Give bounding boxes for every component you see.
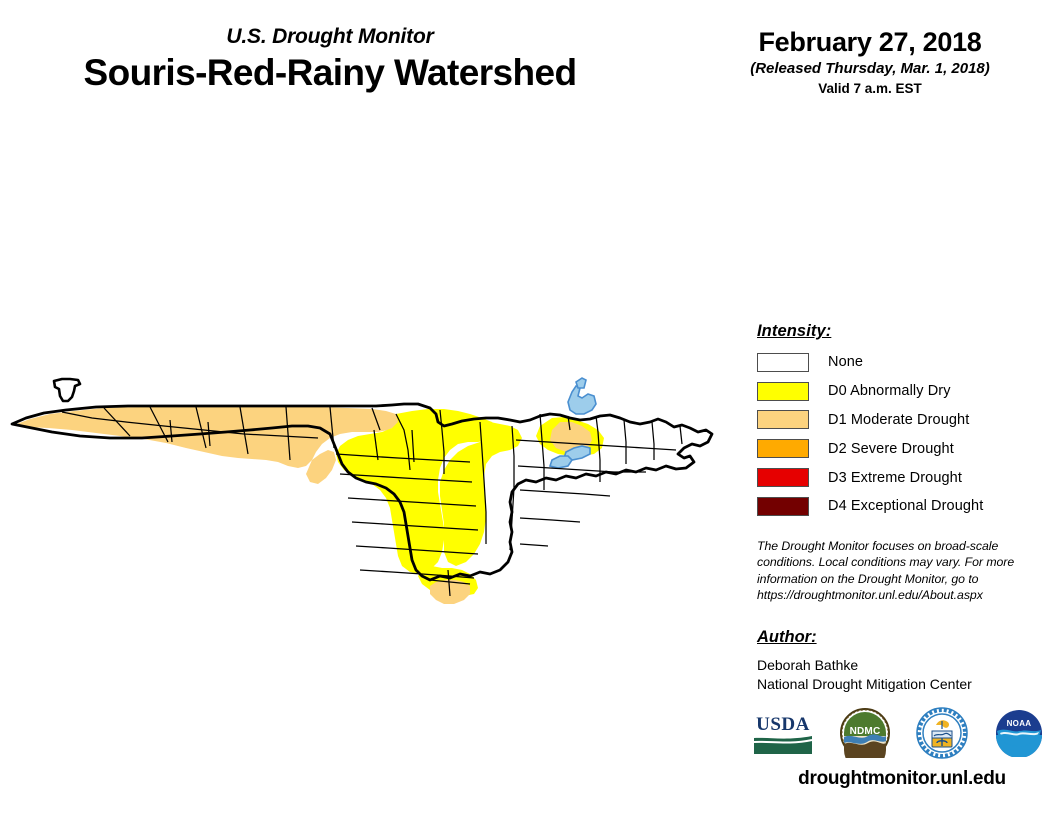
author-organization: National Drought Mitigation Center xyxy=(757,675,1047,694)
legend-swatch-none xyxy=(757,353,809,372)
title-block: U.S. Drought Monitor Souris-Red-Rainy Wa… xyxy=(0,26,660,93)
valid-date: February 27, 2018 xyxy=(690,28,1050,56)
page-title: Souris-Red-Rainy Watershed xyxy=(0,54,660,93)
legend-label-d4: D4 Exceptional Drought xyxy=(828,498,983,514)
legend-panel: Intensity: None D0 Abnormally Dry D1 Mod… xyxy=(757,322,1047,521)
legend-item-d4[interactable]: D4 Exceptional Drought xyxy=(757,492,1047,521)
noaa-logo-text: NOAA xyxy=(1007,719,1032,728)
legend-label-d0: D0 Abnormally Dry xyxy=(828,383,951,399)
release-date: (Released Thursday, Mar. 1, 2018) xyxy=(690,61,1050,77)
date-block: February 27, 2018 (Released Thursday, Ma… xyxy=(690,28,1050,96)
legend-swatch-d4 xyxy=(757,497,809,516)
legend-label-d2: D2 Severe Drought xyxy=(828,441,954,457)
legend-item-none[interactable]: None xyxy=(757,348,1047,377)
usda-logo-text: USDA xyxy=(756,714,810,735)
watershed-polygons xyxy=(12,378,712,604)
author-heading: Author: xyxy=(757,628,1047,647)
legend-item-d3[interactable]: D3 Extreme Drought xyxy=(757,463,1047,492)
legend-swatch-d1 xyxy=(757,410,809,429)
legend-heading: Intensity: xyxy=(757,322,1047,341)
site-url[interactable]: droughtmonitor.unl.edu xyxy=(757,768,1047,790)
valid-time: Valid 7 a.m. EST xyxy=(690,82,1050,96)
usda-logo[interactable]: USDA xyxy=(752,710,814,756)
lake-of-the-woods-upper-arm xyxy=(576,378,586,388)
logo-strip: USDA NDMC NOAA xyxy=(752,705,1044,761)
usdc-seal-logo[interactable] xyxy=(916,707,968,759)
product-subtitle: U.S. Drought Monitor xyxy=(0,26,660,47)
legend-item-d1[interactable]: D1 Moderate Drought xyxy=(757,406,1047,435)
legend-label-none: None xyxy=(828,354,863,370)
legend-swatch-d2 xyxy=(757,439,809,458)
legend-swatch-d0 xyxy=(757,382,809,401)
legend-swatch-d3 xyxy=(757,468,809,487)
legend-item-d0[interactable]: D0 Abnormally Dry xyxy=(757,377,1047,406)
legend-label-d3: D3 Extreme Drought xyxy=(828,470,962,486)
map-svg xyxy=(0,130,745,690)
disclaimer-text: The Drought Monitor focuses on broad-sca… xyxy=(757,538,1025,603)
lake-of-the-woods-water xyxy=(568,386,596,414)
legend-label-d1: D1 Moderate Drought xyxy=(828,412,969,428)
author-name: Deborah Bathke xyxy=(757,656,1047,675)
noaa-logo[interactable]: NOAA xyxy=(994,709,1044,757)
watershed-inset-outline xyxy=(54,379,80,401)
legend-item-d2[interactable]: D2 Severe Drought xyxy=(757,434,1047,463)
ndmc-logo-text: NDMC xyxy=(850,726,881,737)
ndmc-logo[interactable]: NDMC xyxy=(840,708,890,758)
author-block: Author: Deborah Bathke National Drought … xyxy=(757,628,1047,694)
drought-map[interactable] xyxy=(0,130,745,690)
